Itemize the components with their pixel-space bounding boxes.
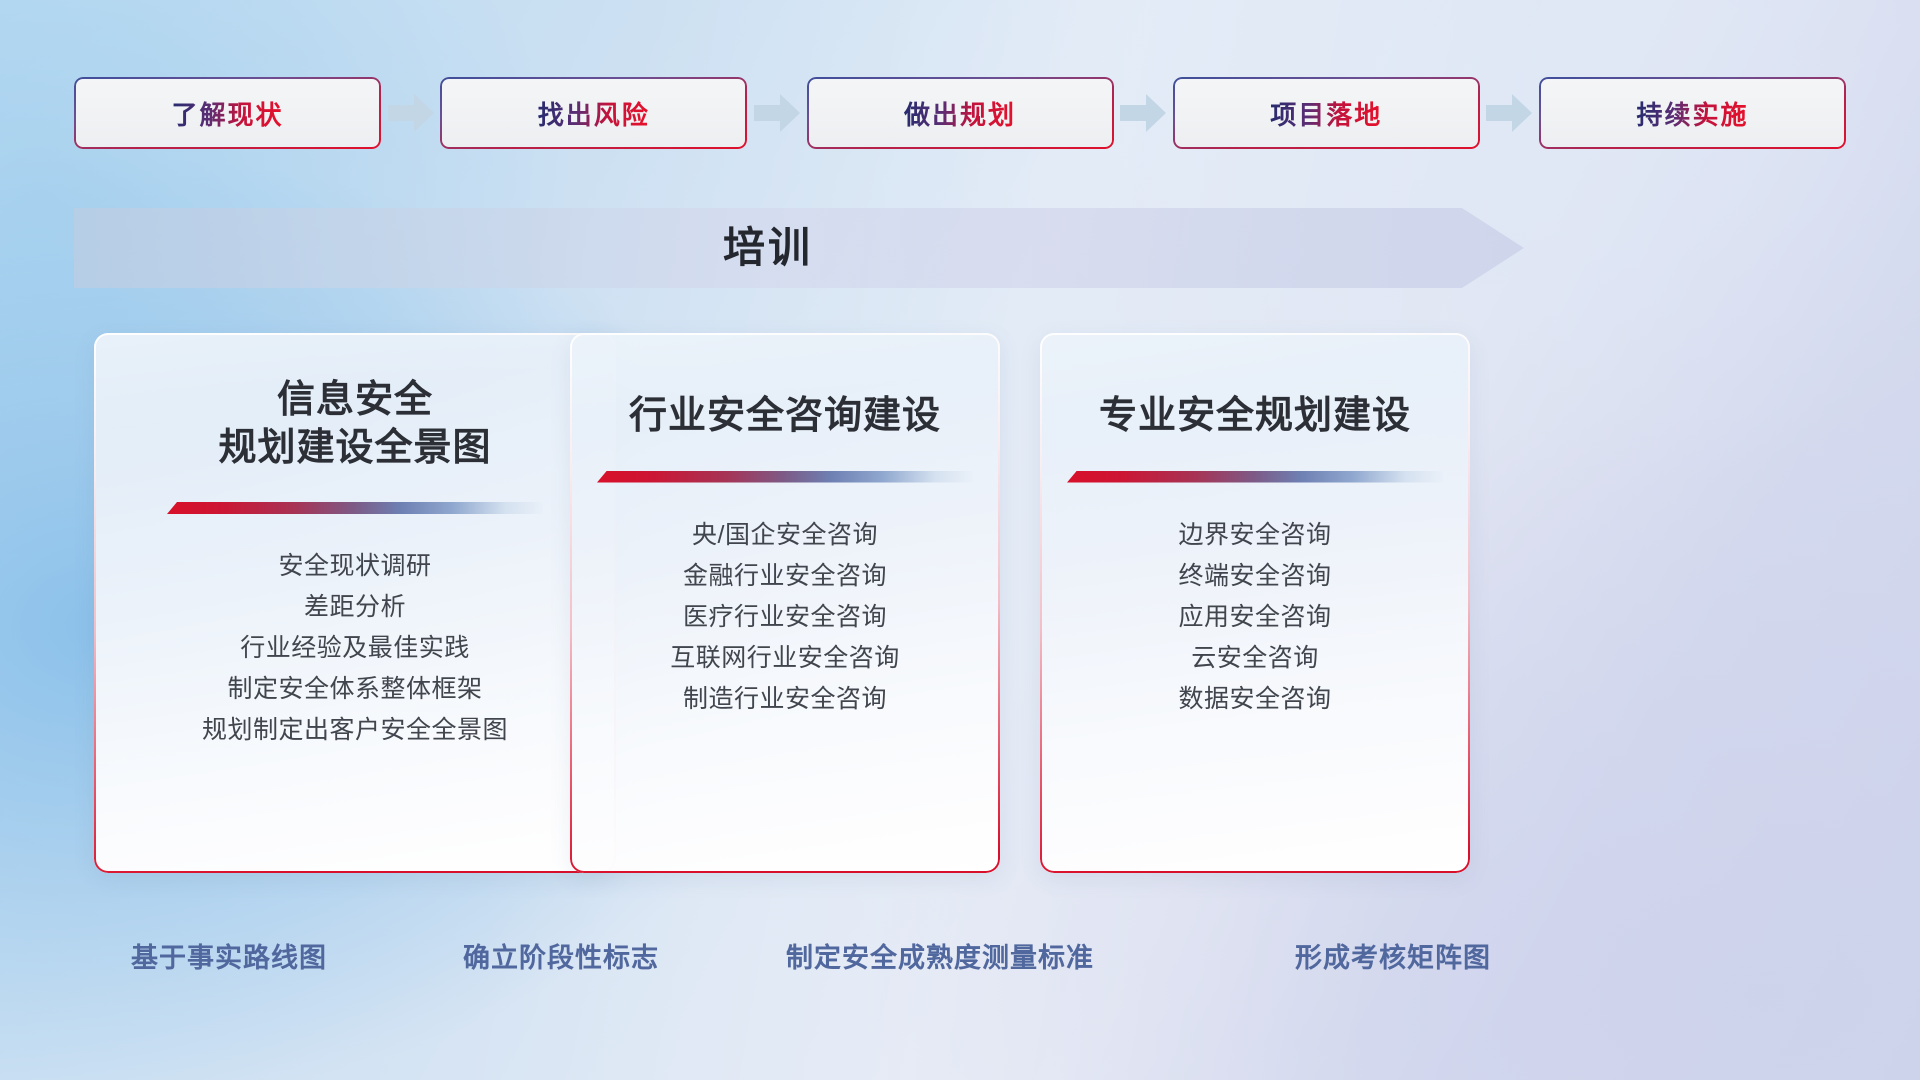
footer-label-assessment-matrix: 形成考核矩阵图	[1295, 935, 1491, 981]
list-item: 云安全咨询	[1066, 638, 1444, 679]
step-box-4[interactable]: 项目落地	[1173, 77, 1480, 149]
card-professional-security-planning[interactable]: 专业安全规划建设 边界安全咨询 终端安全咨询 应用安全咨询 云安全咨询 数据安全…	[1040, 333, 1470, 873]
list-item: 金融行业安全咨询	[596, 556, 974, 597]
list-item: 医疗行业安全咨询	[596, 597, 974, 638]
card-title: 专业安全规划建设	[1099, 393, 1411, 441]
card-title: 行业安全咨询建设	[629, 393, 941, 441]
banner-title: 培训	[74, 208, 1462, 288]
step-label: 项目落地	[1270, 95, 1382, 132]
list-item: 边界安全咨询	[1066, 515, 1444, 556]
list-item: 应用安全咨询	[1066, 597, 1444, 638]
list-item: 制造行业安全咨询	[596, 679, 974, 720]
footer-label-row: 基于事实路线图 确立阶段性标志 制定安全成熟度测量标准 形成考核矩阵图	[0, 935, 1920, 981]
step-label: 做出规划	[904, 95, 1016, 132]
step-arrow-icon-3	[1114, 90, 1173, 136]
footer-label-milestones: 确立阶段性标志	[463, 935, 659, 981]
card-divider	[597, 471, 973, 483]
footer-label-roadmap: 基于事实路线图	[131, 935, 327, 981]
slide-canvas: 了解现状 找出风险 做出规划 项目落地	[0, 0, 1920, 1080]
list-item: 制定安全体系整体框架	[120, 669, 590, 710]
list-item: 数据安全咨询	[1066, 679, 1444, 720]
step-label: 了解现状	[171, 95, 283, 132]
list-item: 差距分析	[120, 587, 590, 628]
list-item: 规划制定出客户安全全景图	[120, 710, 590, 751]
training-banner: 培训	[74, 208, 1524, 288]
list-item: 央/国企安全咨询	[596, 515, 974, 556]
step-arrow-icon-1	[381, 90, 440, 136]
list-item: 互联网行业安全咨询	[596, 638, 974, 679]
card-group: 信息安全 规划建设全景图 安全现状调研 差距分析 行业经验及最佳实践 制定安全体…	[0, 333, 1920, 873]
list-item: 安全现状调研	[120, 546, 590, 587]
card-item-list: 安全现状调研 差距分析 行业经验及最佳实践 制定安全体系整体框架 规划制定出客户…	[120, 546, 590, 751]
step-label: 找出风险	[538, 95, 650, 132]
step-box-3[interactable]: 做出规划	[807, 77, 1114, 149]
footer-label-maturity-standard: 制定安全成熟度测量标准	[786, 935, 1094, 981]
step-box-2[interactable]: 找出风险	[440, 77, 747, 149]
card-divider	[1067, 471, 1443, 483]
card-divider	[167, 502, 543, 514]
card-info-security-panorama[interactable]: 信息安全 规划建设全景图 安全现状调研 差距分析 行业经验及最佳实践 制定安全体…	[94, 333, 616, 873]
step-label: 持续实施	[1636, 95, 1748, 132]
step-arrow-icon-4	[1480, 90, 1539, 136]
card-item-list: 边界安全咨询 终端安全咨询 应用安全咨询 云安全咨询 数据安全咨询	[1066, 515, 1444, 720]
step-box-5[interactable]: 持续实施	[1539, 77, 1846, 149]
list-item: 终端安全咨询	[1066, 556, 1444, 597]
card-industry-security-consulting[interactable]: 行业安全咨询建设 央/国企安全咨询 金融行业安全咨询 医疗行业安全咨询 互联网行…	[570, 333, 1000, 873]
step-arrow-icon-2	[747, 90, 806, 136]
process-step-strip: 了解现状 找出风险 做出规划 项目落地	[74, 77, 1846, 149]
card-title: 信息安全 规划建设全景图	[218, 377, 491, 472]
card-item-list: 央/国企安全咨询 金融行业安全咨询 医疗行业安全咨询 互联网行业安全咨询 制造行…	[596, 515, 974, 720]
step-box-1[interactable]: 了解现状	[74, 77, 381, 149]
list-item: 行业经验及最佳实践	[120, 628, 590, 669]
